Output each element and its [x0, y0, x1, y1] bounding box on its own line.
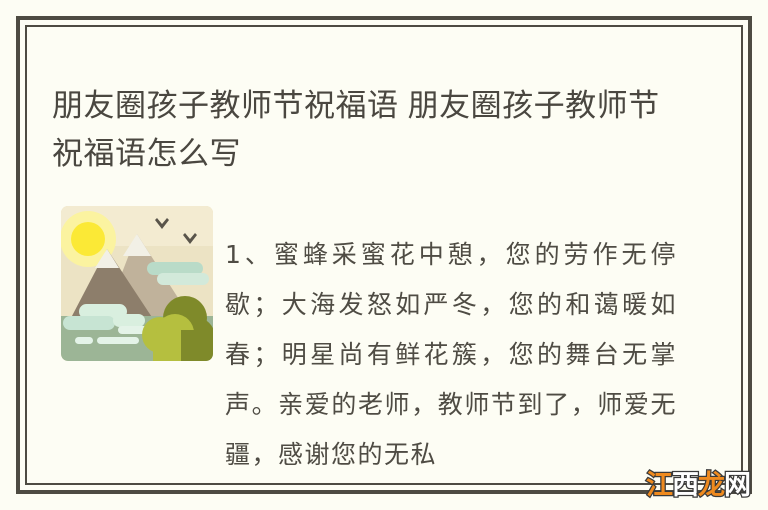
site-watermark: 江西龙网 — [646, 471, 750, 501]
article-thumbnail — [61, 206, 213, 361]
watermark-char-1: 江 — [646, 470, 672, 501]
mountain-landscape-icon — [61, 206, 213, 361]
watermark-char-4: 网 — [724, 470, 750, 501]
article-body-text: 1、蜜蜂采蜜花中憩，您的劳作无停歇；大海发怒如严冬，您的和蔼暖如春；明星尚有鲜花… — [225, 230, 677, 480]
article-page: 朋友圈孩子教师节祝福语 朋友圈孩子教师节祝福语怎么写 — [0, 0, 768, 510]
watermark-char-2: 西 — [672, 470, 698, 501]
page-title: 朋友圈孩子教师节祝福语 朋友圈孩子教师节祝福语怎么写 — [52, 82, 672, 178]
article-content: 朋友圈孩子教师节祝福语 朋友圈孩子教师节祝福语怎么写 — [28, 28, 740, 482]
watermark-char-3: 龙 — [698, 470, 724, 501]
